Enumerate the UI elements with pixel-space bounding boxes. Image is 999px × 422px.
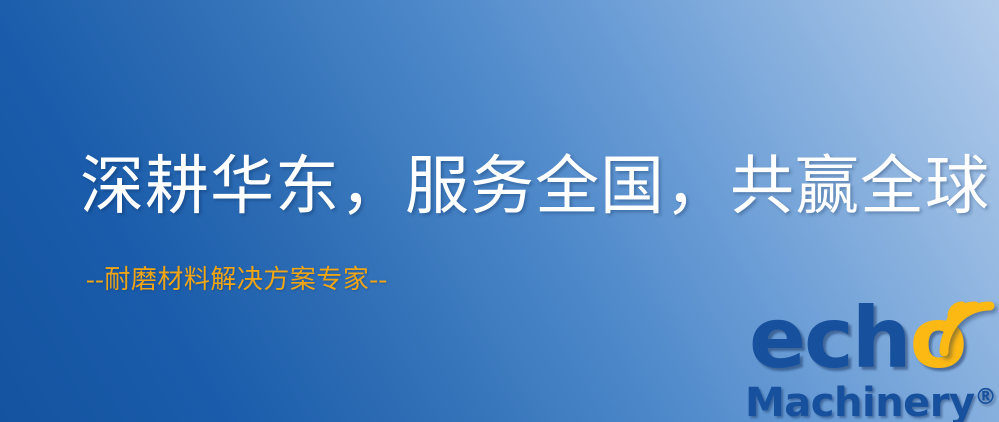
company-logo[interactable]: echo Machinery® [745, 296, 999, 422]
logo-wordmark-blue-text: ech [749, 289, 910, 387]
promotional-banner: 深耕华东，服务全国，共赢全球 --耐磨材料解决方案专家-- echo Machi… [0, 0, 999, 422]
logo-tagline: Machinery® [745, 376, 997, 422]
banner-headline: 深耕华东，服务全国，共赢全球 [80, 148, 990, 226]
registered-trademark-icon: ® [975, 385, 997, 410]
signal-waves-icon [928, 290, 999, 356]
banner-subtitle: --耐磨材料解决方案专家-- [86, 263, 388, 297]
logo-tagline-text: Machinery [745, 380, 975, 422]
